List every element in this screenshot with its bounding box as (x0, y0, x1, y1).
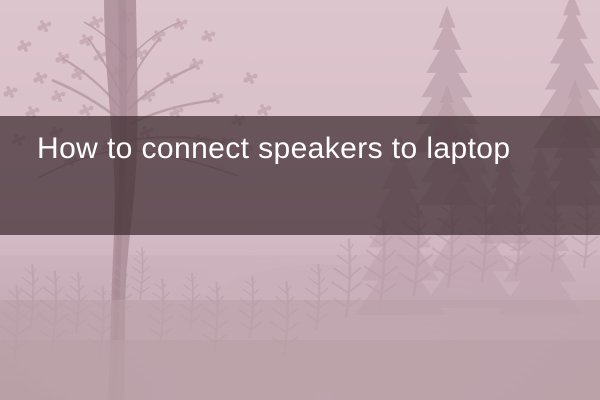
card-title: How to connect speakers to laptop (37, 130, 580, 168)
title-overlay-band: How to connect speakers to laptop (0, 116, 600, 235)
article-thumbnail-card[interactable]: How to connect speakers to laptop (0, 0, 600, 400)
